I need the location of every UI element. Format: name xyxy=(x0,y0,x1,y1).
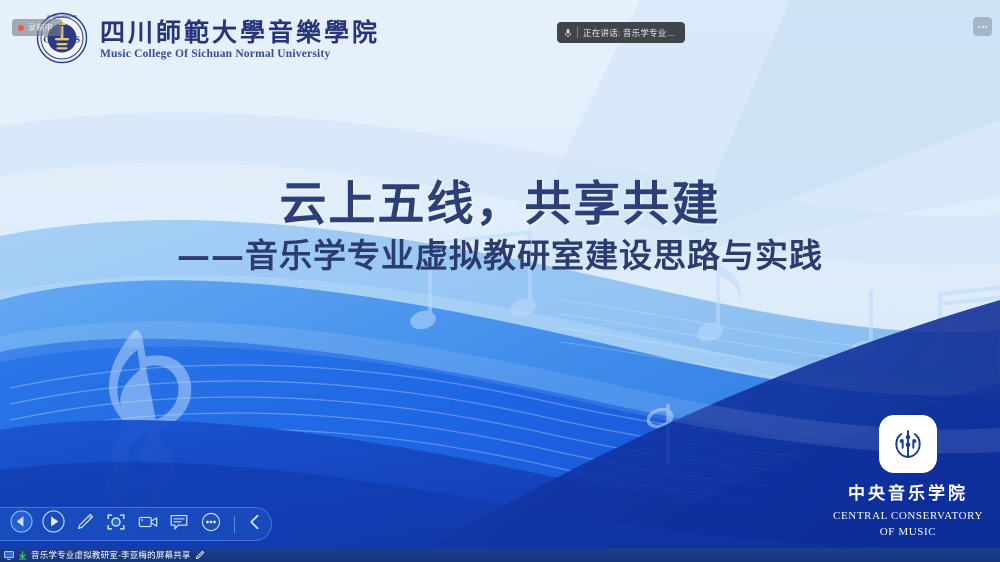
chevron-left-icon xyxy=(245,512,265,537)
more-tools-button[interactable] xyxy=(197,510,225,538)
recording-label: 录制中 xyxy=(28,22,53,33)
recording-badge: 录制中 xyxy=(12,19,62,36)
pencil-icon xyxy=(74,511,96,538)
chat-bubble-icon xyxy=(168,511,190,538)
circle-play-icon xyxy=(42,510,65,538)
svg-text:C: C xyxy=(43,35,50,45)
svg-text:四川师范大学音乐学院: 四川师范大学音乐学院 xyxy=(47,14,77,19)
toolbar-divider xyxy=(234,516,235,533)
share-status-label: 音乐学专业虚拟教研室-李亚梅的屏幕共享 xyxy=(31,549,191,561)
play-slideshow-button[interactable] xyxy=(40,510,68,538)
more-options-icon[interactable] xyxy=(973,17,992,36)
presentation-slide[interactable]: 四川师范大学音乐学院 C S 四川師範大學音樂學院 Music College … xyxy=(0,0,1000,548)
circle-left-arrow-icon xyxy=(10,510,33,538)
university-header: 四川师范大学音乐学院 C S 四川師範大學音樂學院 Music College … xyxy=(36,12,380,64)
circle-ellipsis-icon xyxy=(200,511,222,538)
university-name-en: Music College Of Sichuan Normal Universi… xyxy=(100,48,380,60)
central-conservatory-of-music-logo-icon xyxy=(879,415,937,473)
slide-subtitle: ——音乐学专业虚拟教研室建设思路与实践 xyxy=(0,237,1000,276)
title-block: 云上五线，共享共建 ——音乐学专业虚拟教研室建设思路与实践 xyxy=(0,180,1000,276)
download-arrow-icon[interactable] xyxy=(18,551,27,560)
monitor-icon xyxy=(4,551,14,560)
university-name-cn: 四川師範大學音樂學院 xyxy=(100,19,380,47)
capture-frame-icon xyxy=(105,511,127,538)
previous-slide-button[interactable] xyxy=(8,510,36,538)
slide-main-title: 云上五线，共享共建 xyxy=(0,180,1000,231)
pill-divider xyxy=(577,27,578,38)
share-toolbar[interactable] xyxy=(0,507,272,541)
microphone-icon xyxy=(564,28,572,38)
university-name-block: 四川師範大學音樂學院 Music College Of Sichuan Norm… xyxy=(100,17,380,60)
annotate-pen-button[interactable] xyxy=(71,510,99,538)
conservatory-name-cn: 中央音乐学院 xyxy=(848,479,968,504)
screen-share-window: 四川师范大学音乐学院 C S 四川師範大學音樂學院 Music College … xyxy=(0,0,1000,562)
video-camera-icon xyxy=(137,511,159,538)
active-speaker-pill[interactable]: 正在讲话: 音乐学专业虚拟教... xyxy=(557,22,685,43)
central-conservatory-logo-block: 中央音乐学院 CENTRAL CONSERVATORY OF MUSIC xyxy=(838,415,978,538)
conservatory-name-en-line2: OF MUSIC xyxy=(880,526,936,538)
pencil-edit-icon[interactable] xyxy=(195,550,205,560)
conservatory-name-en-line1: CENTRAL CONSERVATORY xyxy=(833,510,983,522)
svg-text:S: S xyxy=(75,35,80,45)
active-speaker-label: 正在讲话: 音乐学专业虚拟教... xyxy=(583,27,678,39)
recording-dot-icon xyxy=(18,25,24,31)
screenshot-button[interactable] xyxy=(103,510,131,538)
collapse-toolbar-button[interactable] xyxy=(241,510,269,538)
record-video-button[interactable] xyxy=(134,510,162,538)
screen-share-status-bar[interactable]: 音乐学专业虚拟教研室-李亚梅的屏幕共享 xyxy=(0,548,1000,562)
chat-button[interactable] xyxy=(166,510,194,538)
